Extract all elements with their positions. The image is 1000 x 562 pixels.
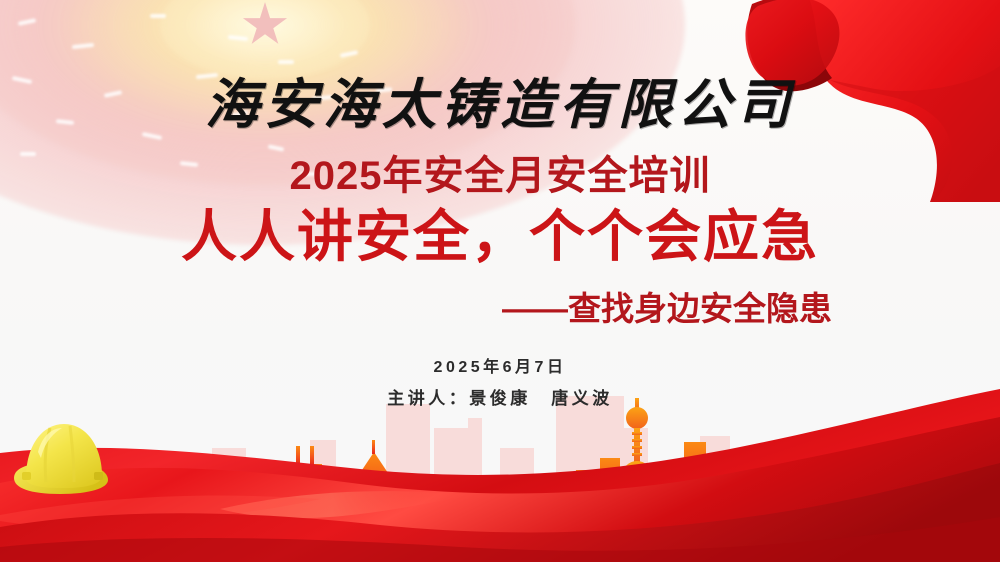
slogan-headline: 人人讲安全，个个会应急 [0, 206, 1000, 268]
presentation-date: 2025年6月7日 [0, 356, 1000, 381]
presentation-speaker: 主讲人：景俊康 唐义波 [0, 386, 1000, 412]
company-name: 海安海太铸造有限公司 [0, 78, 1000, 132]
slogan-tagline: ——查找身边安全隐患 [502, 292, 832, 325]
title-content: 海安海太铸造有限公司 2025年安全月安全培训 人人讲安全，个个会应急 ——查找… [0, 0, 1000, 562]
presentation-meta: 2025年6月7日 主讲人：景俊康 唐义波 [0, 356, 1000, 412]
presentation-slide: 海安海太铸造有限公司 2025年安全月安全培训 人人讲安全，个个会应急 ——查找… [0, 0, 1000, 562]
training-subtitle: 2025年安全月安全培训 [0, 156, 1000, 196]
